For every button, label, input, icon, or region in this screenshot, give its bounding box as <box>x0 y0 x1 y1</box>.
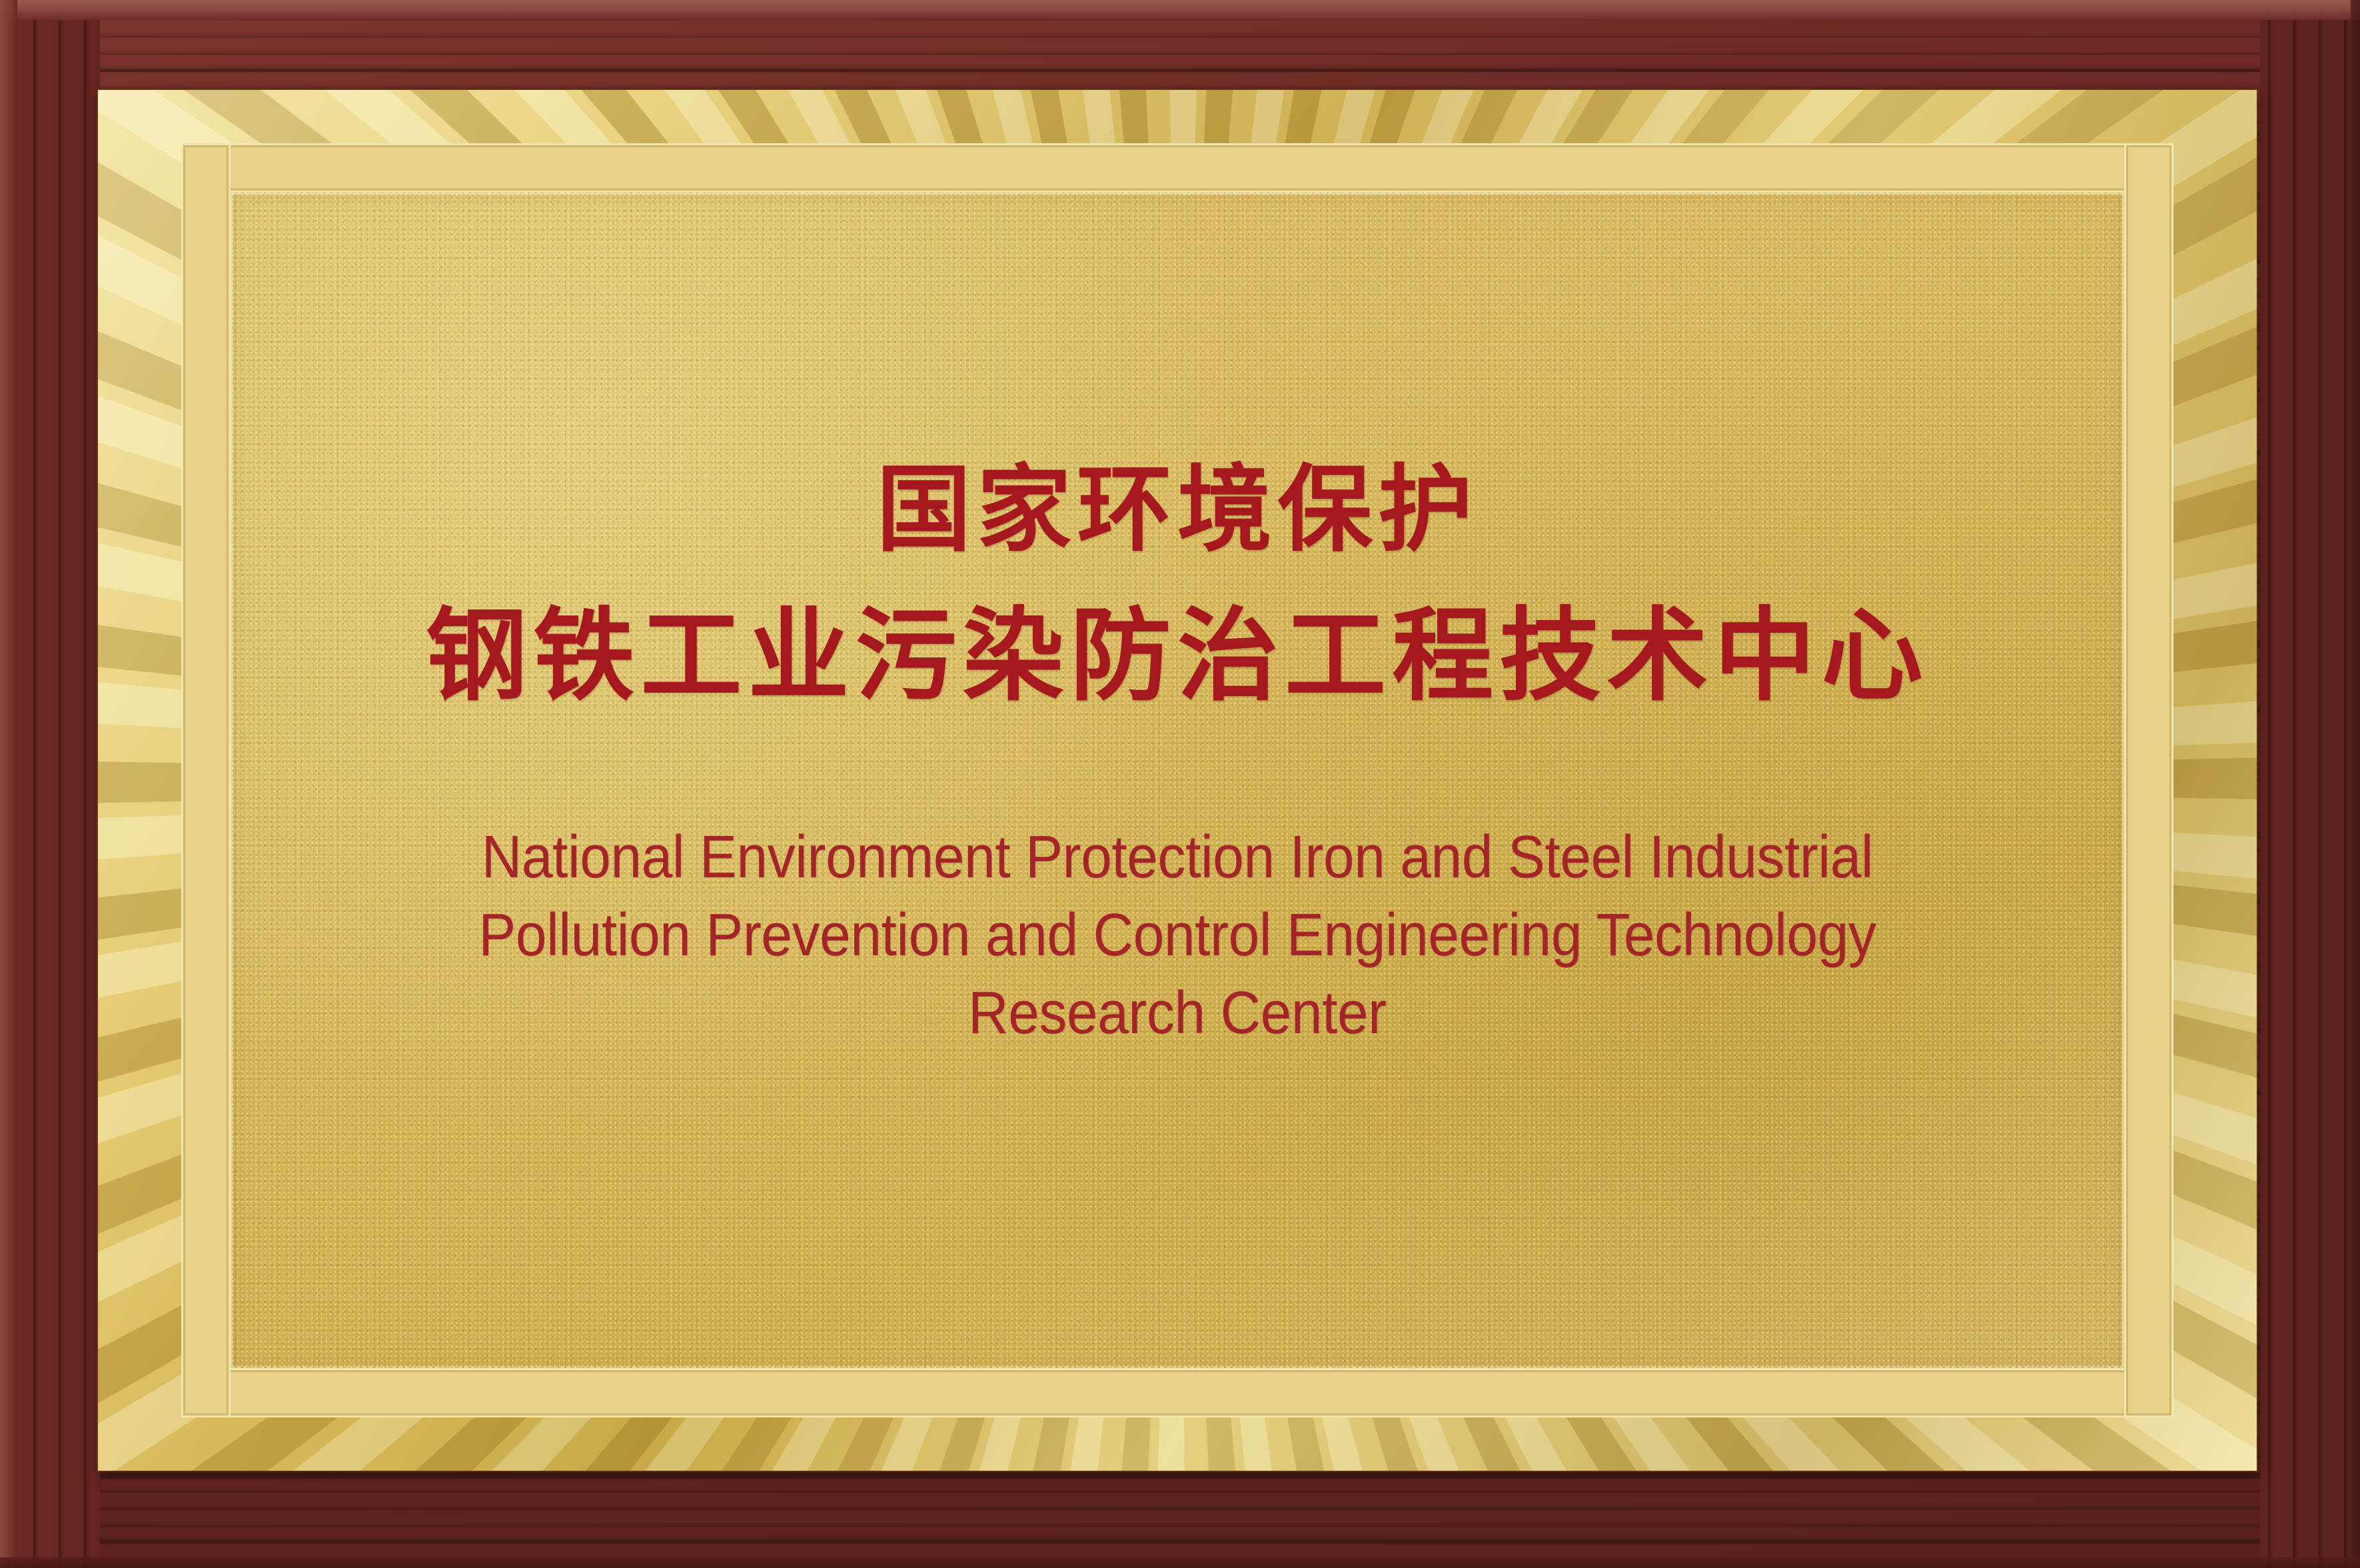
greek-key-border-bottom <box>181 1368 2173 1417</box>
greek-key-border-top <box>181 143 2173 193</box>
greek-key-border-right <box>2124 143 2173 1417</box>
award-plaque: 国家环境保护 钢铁工业污染防治工程技术中心 National Environme… <box>0 0 2360 1568</box>
greek-key-border-left <box>181 143 231 1417</box>
gold-plate: 国家环境保护 钢铁工业污染防治工程技术中心 National Environme… <box>98 90 2257 1471</box>
plate-inner-field <box>231 193 2124 1368</box>
